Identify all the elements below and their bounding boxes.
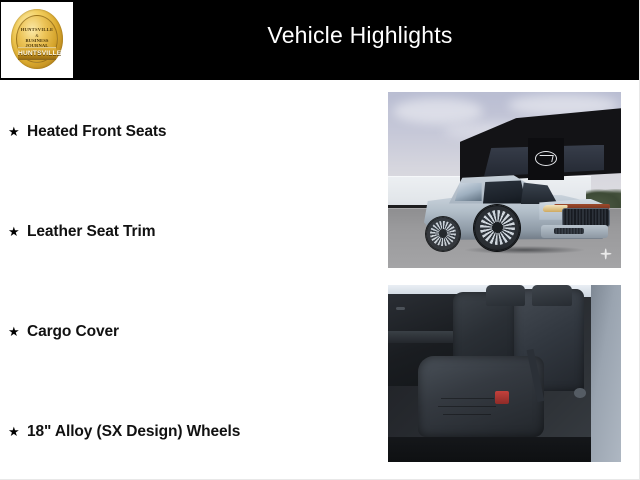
headrest [486, 285, 526, 306]
presentation-slide: Vehicle Highlights HUNTSVILLE & BUSINESS… [0, 0, 640, 480]
sparkle-watermark-icon [600, 248, 611, 259]
list-item-label: 18" Alloy (SX Design) Wheels [27, 423, 240, 441]
rear-door-window [482, 180, 527, 203]
list-item: ★ Cargo Cover [8, 320, 119, 344]
badge-inner-disc: HUNTSVILLE & BUSINESS JOURNAL HUNTSVILLE [16, 15, 58, 63]
star-bullet-icon: ★ [8, 326, 27, 339]
badge-line-1: HUNTSVILLE [17, 27, 57, 32]
front-grille [562, 208, 611, 226]
list-item-label: Cargo Cover [27, 323, 119, 341]
wheel-hub [439, 229, 447, 237]
door-handle [396, 307, 404, 311]
page-title: Vehicle Highlights [180, 22, 540, 49]
list-item: ★ 18" Alloy (SX Design) Wheels [8, 420, 240, 444]
list-item-label: Heated Front Seats [27, 123, 166, 141]
star-bullet-icon: ★ [8, 426, 27, 439]
list-item-label: Leather Seat Trim [27, 223, 155, 241]
list-item: ★ Heated Front Seats [8, 120, 166, 144]
rear-wheel [426, 217, 460, 251]
door-armrest [388, 331, 458, 343]
badge-ribbon: HUNTSVILLE [18, 47, 56, 60]
vehicle-interior-photo [388, 285, 621, 462]
front-alloy-wheel [474, 205, 520, 251]
star-bullet-icon: ★ [8, 126, 27, 139]
interior-pillar [591, 285, 621, 462]
badge-ribbon-text: HUNTSVILLE [18, 50, 56, 57]
logo-container: HUNTSVILLE & BUSINESS JOURNAL HUNTSVILLE [1, 2, 73, 78]
seat-seam [438, 406, 496, 407]
lower-air-intake [554, 228, 584, 234]
seat-belt-buckle [495, 391, 509, 403]
seat-seam [443, 414, 491, 415]
rear-seat-cushion [418, 356, 544, 437]
list-item: ★ Leather Seat Trim [8, 220, 155, 244]
mazda-logo-icon [535, 151, 557, 166]
cloud [393, 98, 483, 124]
vehicle-highlights-list: ★ Heated Front Seats ★ Leather Seat Trim… [0, 80, 380, 480]
headrest [532, 285, 572, 306]
seat-seam [441, 398, 494, 399]
vehicle-exterior-photo: ervice [388, 92, 621, 268]
award-badge-icon: HUNTSVILLE & BUSINESS JOURNAL HUNTSVILLE [11, 9, 63, 69]
wheel-hub [492, 222, 503, 233]
windshield [521, 182, 558, 205]
interior-floor [388, 437, 593, 462]
star-bullet-icon: ★ [8, 226, 27, 239]
suv-vehicle [424, 171, 610, 252]
vehicle-shadow [465, 246, 584, 253]
